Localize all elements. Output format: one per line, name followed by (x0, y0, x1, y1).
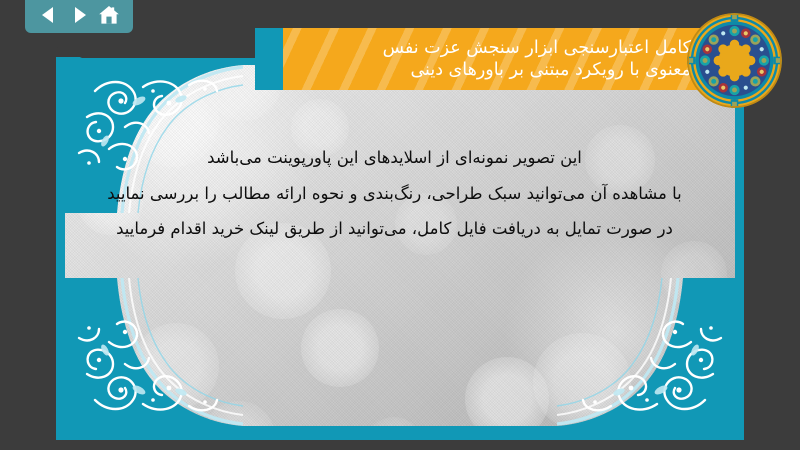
body-line: این تصویر نمونه‌ای از اسلایدهای این پاور… (74, 150, 715, 167)
triangle-left-icon (39, 5, 59, 25)
home-button[interactable] (97, 3, 121, 27)
banner-title-area: کامل اعتبارسنجی ابزار سنجش عزت نفس معنوی… (283, 28, 715, 90)
bokeh-circle (533, 333, 631, 426)
background-texture (65, 65, 735, 426)
bokeh-circle (203, 401, 275, 426)
previous-slide-button[interactable] (37, 3, 61, 27)
bokeh-circle (365, 417, 423, 426)
bokeh-circle (133, 323, 219, 409)
home-icon (98, 5, 120, 25)
slide-frame: این تصویر نمونه‌ای از اسلایدهای این پاور… (56, 57, 744, 440)
triangle-right-icon (69, 5, 89, 25)
slide-title-line-2: معنوی با رویکرد مبتنی بر باورهای دینی (410, 59, 691, 81)
frame-notch (56, 30, 256, 58)
slide-title-line-1: کامل اعتبارسنجی ابزار سنجش عزت نفس (383, 37, 691, 59)
slide-viewer: این تصویر نمونه‌ای از اسلایدهای این پاور… (0, 0, 800, 450)
bokeh-circle (465, 357, 549, 426)
slide-navigation-bar (25, 0, 133, 33)
arabesque-corner-ornament (557, 274, 735, 426)
bokeh-circle (65, 65, 175, 149)
slide-canvas: این تصویر نمونه‌ای از اسلایدهای این پاور… (65, 65, 735, 426)
body-line: با مشاهده آن می‌توانید سبک طراحی، رنگ‌بن… (74, 186, 715, 203)
bokeh-circle (301, 309, 379, 387)
persian-medallion-ornament (687, 13, 782, 108)
arabesque-corner-ornament (65, 274, 243, 426)
slide-title-banner: کامل اعتبارسنجی ابزار سنجش عزت نفس معنوی… (255, 28, 715, 90)
slide-body-text: این تصویر نمونه‌ای از اسلایدهای این پاور… (74, 150, 715, 238)
body-line: در صورت تمایل به دریافت فایل کامل، می‌تو… (74, 221, 715, 238)
next-slide-button[interactable] (67, 3, 91, 27)
bokeh-circle (661, 241, 727, 307)
banner-accent-tab (255, 28, 283, 90)
